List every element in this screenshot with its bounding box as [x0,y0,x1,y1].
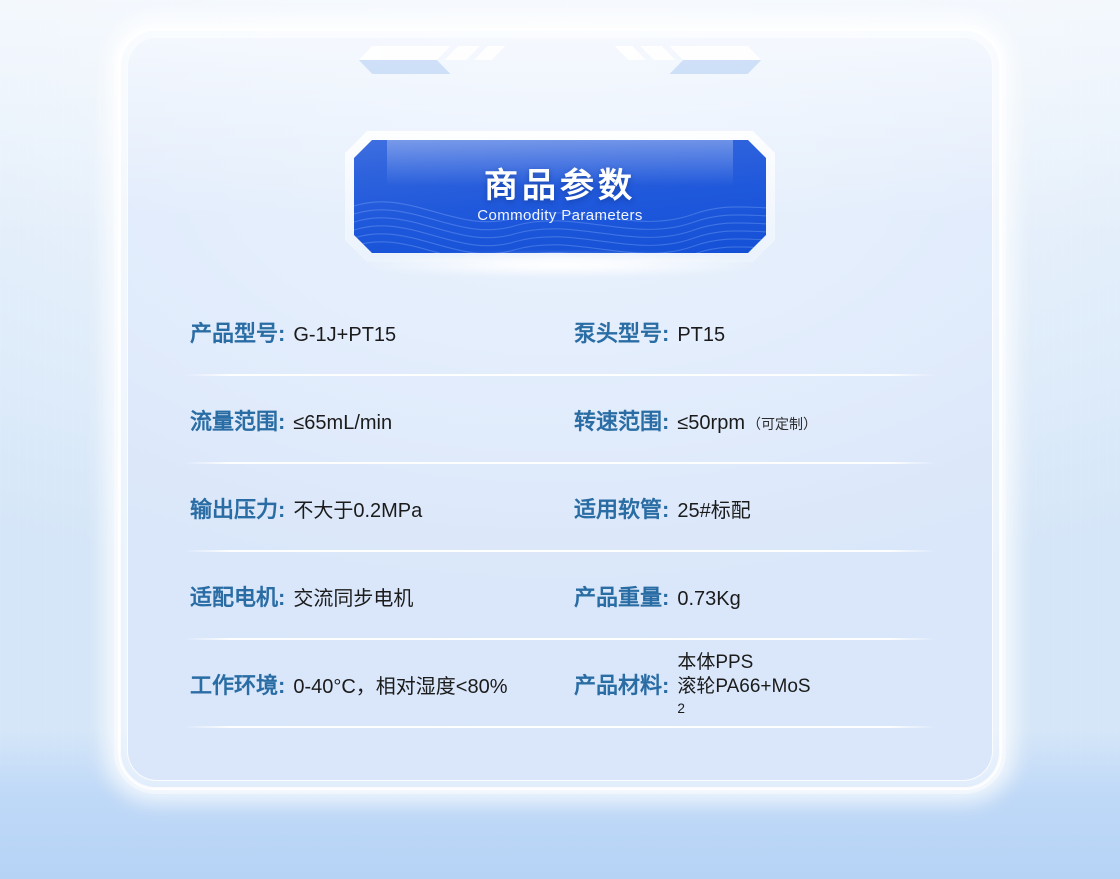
spec-value: ≤65mL/min [293,412,392,435]
specification-table: 产品型号: G-1J+PT15 泵头型号: PT15 流量范围: ≤65mL/m… [184,288,936,728]
spec-label: 输出压力: [190,492,285,524]
spec-label: 转速范围: [574,404,669,436]
spec-cell-working-environment: 工作环境: 0-40°C，相对湿度<80% [184,668,560,700]
spec-value: PT15 [677,324,725,347]
spec-cell-applicable-hose: 适用软管: 25#标配 [560,492,936,524]
spec-value: 本体PPS 滚轮PA66+MoS2 [677,651,810,717]
banner-body: 商品参数 Commodity Parameters [354,140,766,253]
spec-cell-matched-motor: 适配电机: 交流同步电机 [184,580,560,612]
table-row: 工作环境: 0-40°C，相对湿度<80% 产品材料: 本体PPS 滚轮PA66… [184,640,936,728]
spec-value: 0-40°C，相对湿度<80% [293,670,507,699]
parameters-card: 商品参数 Commodity Parameters 产品型号: G-1J+PT1… [118,28,1002,790]
banner-top-highlight [387,140,733,186]
spec-cell-speed-range: 转速范围: ≤50rpm （可定制） [560,404,936,436]
spec-value: 交流同步电机 [293,582,413,611]
table-row: 适配电机: 交流同步电机 产品重量: 0.73Kg [184,552,936,640]
section-banner: 商品参数 Commodity Parameters [354,140,766,253]
spec-label: 流量范围: [190,404,285,436]
spec-value-note: （可定制） [747,414,817,434]
banner-frame [345,131,775,262]
spec-label: 产品型号: [190,316,285,348]
spec-label: 产品重量: [574,580,669,612]
banner-wave-pattern [354,140,766,253]
banner-underglow [360,252,760,278]
spec-value: ≤50rpm [677,412,745,435]
spec-label: 适用软管: [574,492,669,524]
card-inner-sheen [128,38,992,218]
spec-cell-product-weight: 产品重量: 0.73Kg [560,580,936,612]
spec-label: 工作环境: [190,668,285,700]
spec-cell-product-material: 产品材料: 本体PPS 滚轮PA66+MoS2 [560,651,936,717]
table-row: 产品型号: G-1J+PT15 泵头型号: PT15 [184,288,936,376]
spec-label: 泵头型号: [574,316,669,348]
decorative-top-notches [128,37,992,80]
spec-cell-pump-head-model: 泵头型号: PT15 [560,316,936,348]
spec-value-subscript: 2 [677,700,810,718]
spec-cell-flow-range: 流量范围: ≤65mL/min [184,404,560,436]
spec-value: 0.73Kg [677,588,740,611]
banner-zone: 商品参数 Commodity Parameters [128,134,992,294]
spec-label: 适配电机: [190,580,285,612]
table-row: 输出压力: 不大于0.2MPa 适用软管: 25#标配 [184,464,936,552]
spec-cell-output-pressure: 输出压力: 不大于0.2MPa [184,492,560,524]
spec-cell-product-model: 产品型号: G-1J+PT15 [184,316,560,348]
spec-value-line-1: 本体PPS [677,651,810,675]
table-row: 流量范围: ≤65mL/min 转速范围: ≤50rpm （可定制） [184,376,936,464]
banner-text-group: 商品参数 Commodity Parameters [354,140,766,253]
spec-value-line-2: 滚轮PA66+MoS2 [677,675,810,717]
spec-value: G-1J+PT15 [293,324,396,347]
spec-value: 25#标配 [677,494,750,523]
banner-subtitle: Commodity Parameters [477,207,643,225]
card-inner-surface: 商品参数 Commodity Parameters 产品型号: G-1J+PT1… [127,37,993,781]
spec-label: 产品材料: [574,668,669,700]
spec-value-line-2-text: 滚轮PA66+MoS [677,675,810,699]
spec-value: 不大于0.2MPa [293,494,422,523]
banner-title: 商品参数 [484,168,636,205]
